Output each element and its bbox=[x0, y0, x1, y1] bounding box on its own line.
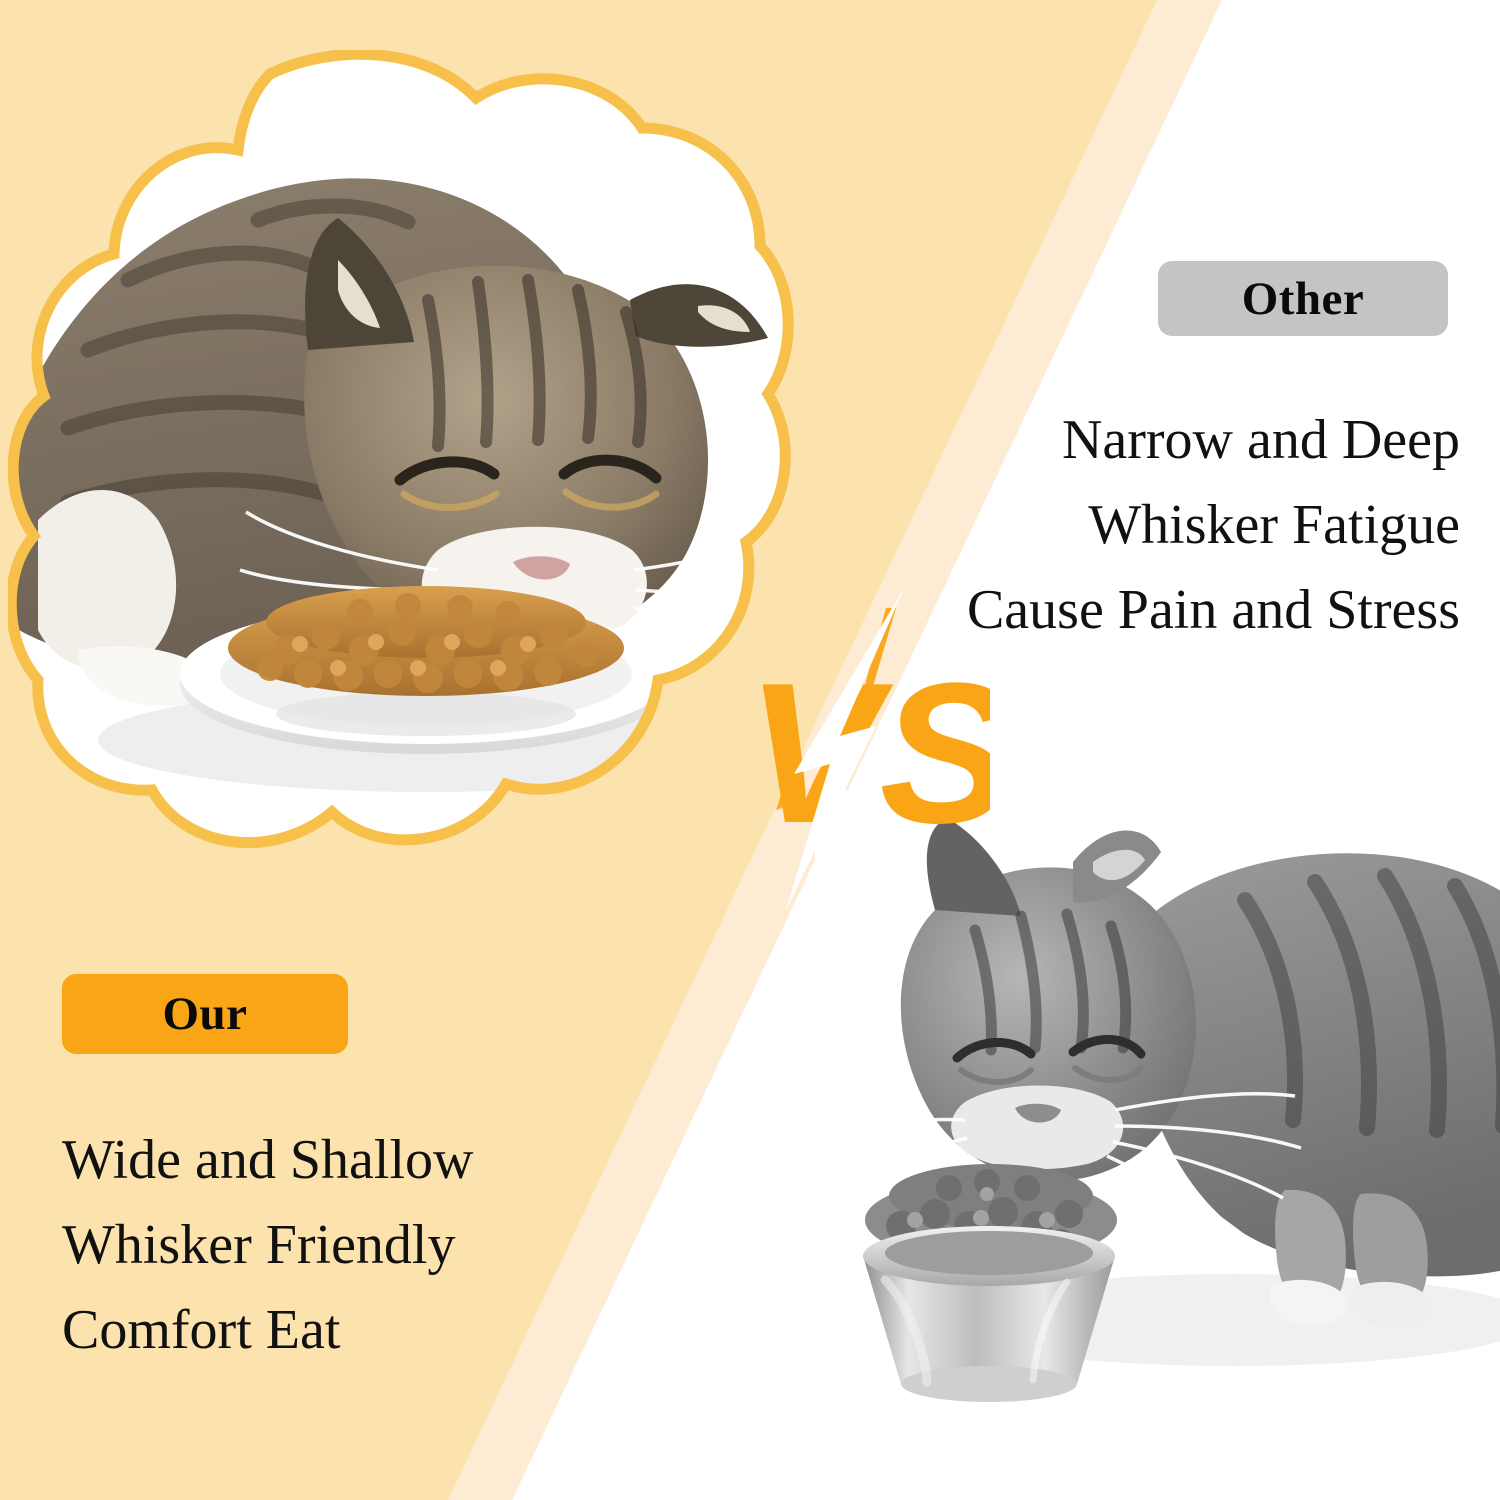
other-feature-1: Narrow and Deep bbox=[967, 398, 1460, 483]
our-feature-1: Wide and Shallow bbox=[62, 1118, 473, 1203]
our-photo-frame bbox=[8, 50, 798, 916]
our-feature-list: Wide and Shallow Whisker Friendly Comfor… bbox=[62, 1118, 473, 1373]
steel-bowl bbox=[863, 1164, 1117, 1402]
comparison-infographic: VS Other Our Narrow and Deep Whisker Fat… bbox=[0, 0, 1500, 1500]
other-feature-list: Narrow and Deep Whisker Fatigue Cause Pa… bbox=[967, 398, 1460, 653]
our-feature-3: Comfort Eat bbox=[62, 1288, 473, 1373]
vs-text: VS bbox=[746, 642, 990, 865]
other-feature-3: Cause Pain and Stress bbox=[967, 568, 1460, 653]
vs-graphic: VS bbox=[690, 560, 990, 940]
badge-our[interactable]: Our bbox=[62, 974, 348, 1054]
our-feature-2: Whisker Friendly bbox=[62, 1203, 473, 1288]
badge-other[interactable]: Other bbox=[1158, 261, 1448, 336]
cloud-frame-outline bbox=[8, 50, 798, 916]
other-feature-2: Whisker Fatigue bbox=[967, 483, 1460, 568]
vs-lockup: VS bbox=[690, 560, 990, 940]
